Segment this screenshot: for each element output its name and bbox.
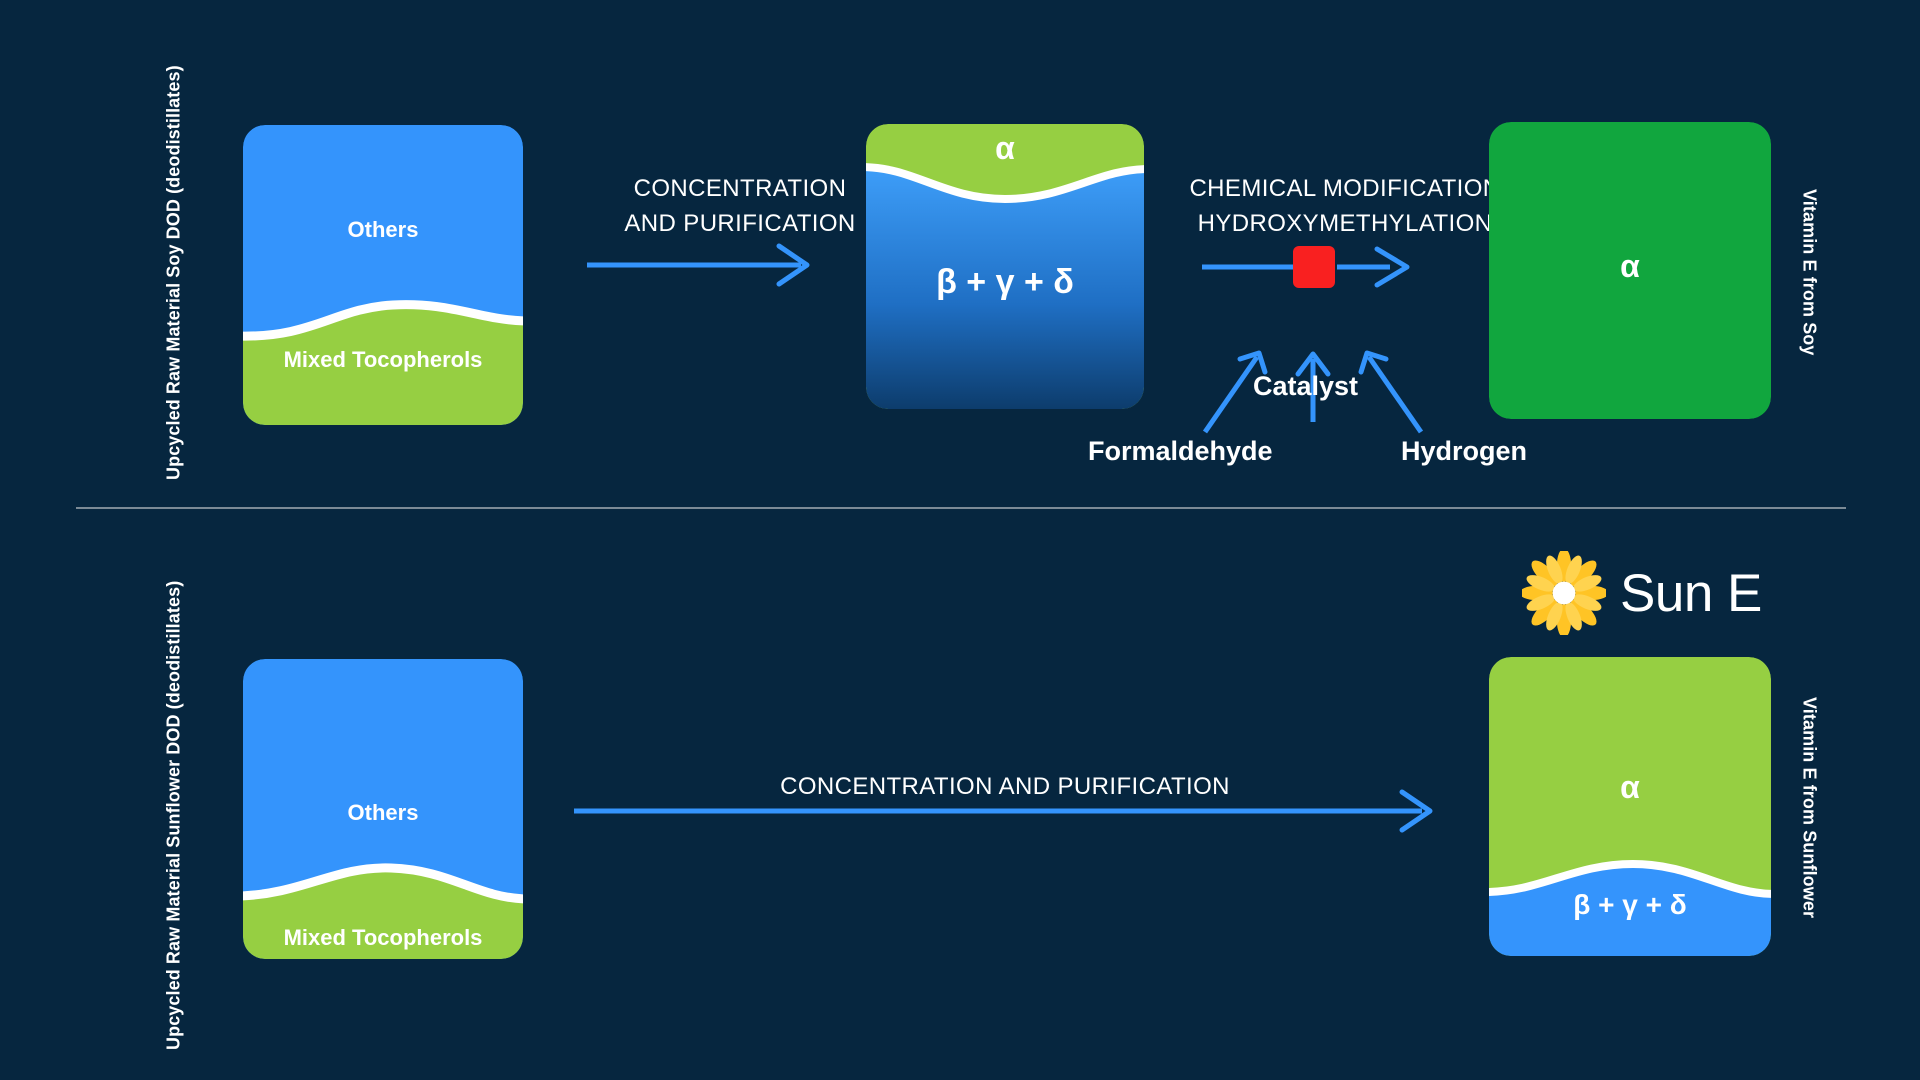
- catalyst-marker: [1293, 246, 1335, 288]
- soy-input-label: Upcycled Raw Material Soy DOD (deodistil…: [148, 128, 200, 418]
- soy-output-label: Vitamin E from Soy: [1794, 130, 1824, 415]
- sun-e-logo: Sun E: [1522, 551, 1762, 635]
- row-divider: [76, 507, 1846, 509]
- soy-step2-arrow-group: [1185, 232, 1505, 452]
- soy-input-box-graphic: [243, 125, 523, 425]
- diagram-canvas: Upcycled Raw Material Soy DOD (deodistil…: [0, 0, 1920, 1080]
- soy-mid-box-graphic: [866, 124, 1144, 409]
- sunflower-output-box-graphic: [1489, 657, 1771, 956]
- soy-step1-arrow: [583, 240, 823, 290]
- sunflower-input-label: Upcycled Raw Material Sunflower DOD (deo…: [148, 650, 200, 980]
- hydrogen-label: Hydrogen: [1401, 436, 1527, 467]
- sunflower-step1-arrow: [570, 786, 1450, 836]
- catalyst-label: Catalyst: [1253, 371, 1358, 402]
- soy-output-fill: [1489, 122, 1771, 419]
- soy-step1-label: CONCENTRATION AND PURIFICATION: [575, 172, 905, 242]
- soy-input-box: Others Mixed Tocopherols: [243, 125, 523, 425]
- formaldehyde-label: Formaldehyde: [1088, 436, 1273, 467]
- soy-mid-box: α β + γ + δ: [866, 124, 1144, 409]
- soy-output-box: α: [1489, 122, 1771, 419]
- sunflower-output-box: α β + γ + δ: [1489, 657, 1771, 956]
- sunflower-input-box-graphic: [243, 659, 523, 959]
- sunflower-input-box: Others Mixed Tocopherols: [243, 659, 523, 959]
- logo-wordmark: Sun E: [1620, 567, 1762, 620]
- sunflower-output-label: Vitamin E from Sunflower: [1794, 660, 1824, 955]
- sunflower-icon: [1522, 551, 1606, 635]
